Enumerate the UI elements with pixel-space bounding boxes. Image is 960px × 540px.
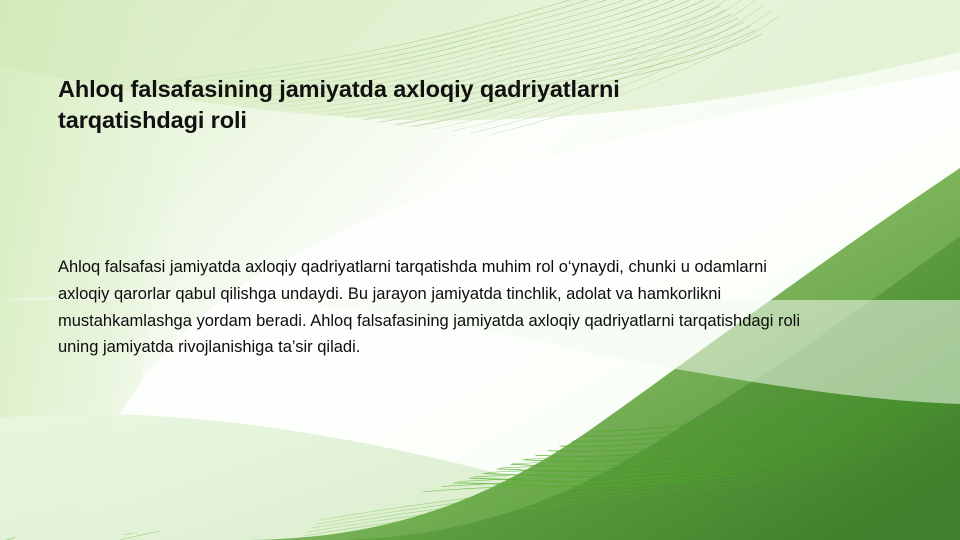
slide-body-text: Ahloq falsafasi jamiyatda axloqiy qadriy… <box>58 254 810 361</box>
page-title: Ahloq falsafasining jamiyatda axloqiy qa… <box>58 74 758 136</box>
slide-content: Ahloq falsafasining jamiyatda axloqiy qa… <box>0 0 960 540</box>
presentation-slide: Ahloq falsafasining jamiyatda axloqiy qa… <box>0 0 960 540</box>
